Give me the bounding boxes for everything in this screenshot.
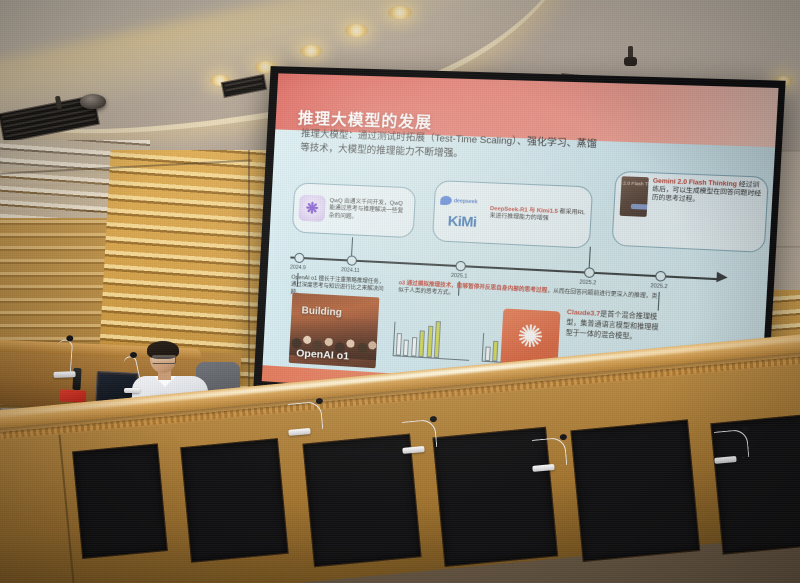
gemini-thumbnail: Gemini 2.0 Flash Thinking: [620, 176, 649, 217]
timeline-stem: [589, 247, 592, 268]
downlight-icon: [388, 6, 412, 19]
chart-bar: [485, 346, 491, 361]
chart-bar: [434, 321, 441, 358]
gemini-thumb-label: Gemini 2.0 Flash Thinking: [620, 180, 649, 188]
microphone-capsule-icon: [130, 352, 137, 358]
note-o3: o3 通过模拟推理技术，能够暂停并反思自身内部的思考过程，从而在回答问题前进行更…: [398, 280, 663, 310]
chart-y-axis: [482, 333, 485, 362]
microphone-gooseneck: [714, 429, 749, 460]
red-name-card: [60, 389, 87, 402]
chart-bar: [426, 326, 433, 358]
timeline-label: 2025.2: [579, 279, 596, 286]
glasses-icon: [152, 355, 176, 364]
microphone-gooseneck: [288, 401, 323, 432]
qwq-logo-icon: ❋: [298, 195, 326, 222]
timeline-stem: [351, 237, 353, 255]
note-claude-lead: Claude3.7: [567, 309, 601, 318]
chart-bars: [396, 319, 441, 358]
callout-qwq-text: QwQ 由通义千问开发，QwQ 能通过思考与推理解决一些复杂的问题。: [329, 198, 410, 224]
microphone-gooseneck: [532, 437, 567, 468]
deepseek-logo-label: deepseek: [454, 198, 478, 205]
bench-panel: [570, 419, 700, 562]
timeline-node: [294, 253, 305, 264]
openai-photo-word-top: Building: [301, 305, 342, 318]
chart-bar: [396, 333, 402, 356]
gemini-thumb-bar: [631, 204, 649, 211]
note-claude: Claude3.7是首个混合推理模型，集普通语言模型和推理模型于一体的混合模型。: [565, 308, 659, 344]
bar-chart-1: [392, 309, 472, 371]
chart-bar: [403, 340, 409, 357]
downlight-icon: [300, 45, 322, 57]
callout-deepseek-kimi-text: DeepSeek-R1 与 Kimi1.5 都采用RL来进行推理能力的增强: [489, 206, 585, 225]
timeline-node: [655, 271, 666, 282]
qwq-logo-box: ❋: [298, 195, 326, 222]
callout-qwq: ❋ QwQ 由通义千问开发，QwQ 能通过思考与推理解决一些复杂的问题。: [292, 182, 417, 238]
deepseek-kimi-logo-box: deepseek KiMi: [439, 194, 487, 231]
timeline-label: 2025.1: [451, 273, 468, 280]
timeline-label: 2024.11: [341, 267, 360, 274]
timeline-arrow-icon: [716, 272, 728, 283]
callout-deepseek-kimi: deepseek KiMi DeepSeek-R1 与 Kimi1.5 都采用R…: [432, 180, 593, 249]
timeline-node: [455, 261, 466, 272]
timeline-node: [584, 267, 595, 278]
chart-bar: [418, 330, 425, 357]
deepseek-logo-icon: deepseek: [440, 194, 487, 209]
microphone-gooseneck: [402, 419, 437, 450]
bench-panel: [180, 438, 288, 563]
lecture-hall-photo: 推理大模型的发展 推理大模型：通过测试时拓展（Test-Time Scaling…: [0, 0, 800, 583]
ceiling-speaker-icon: [624, 57, 637, 66]
timeline-label: 2024.9: [290, 264, 306, 271]
openai-o1-photo: Building OpenAI o1: [289, 293, 380, 369]
timeline-label: 2025.2: [650, 283, 668, 290]
chart-bar: [492, 341, 498, 362]
downlight-icon: [345, 24, 368, 37]
callout-gemini-text: Gemini 2.0 Flash Thinking 经过训练后，可以生成模型在回…: [652, 177, 762, 207]
callout-gemini: Gemini 2.0 Flash Thinking Gemini 2.0 Fla…: [611, 171, 769, 253]
bench-panel: [72, 443, 168, 559]
timeline-node: [346, 255, 357, 266]
kimi-logo-icon: KiMi: [447, 212, 477, 230]
microphone-gooseneck: [56, 339, 73, 375]
openai-photo-word-bottom: OpenAI o1: [296, 347, 350, 362]
deepseek-whale-icon: [440, 196, 452, 206]
chart-bar: [411, 337, 417, 357]
dome-camera-icon: [80, 94, 106, 109]
wall-seam: [248, 150, 250, 400]
